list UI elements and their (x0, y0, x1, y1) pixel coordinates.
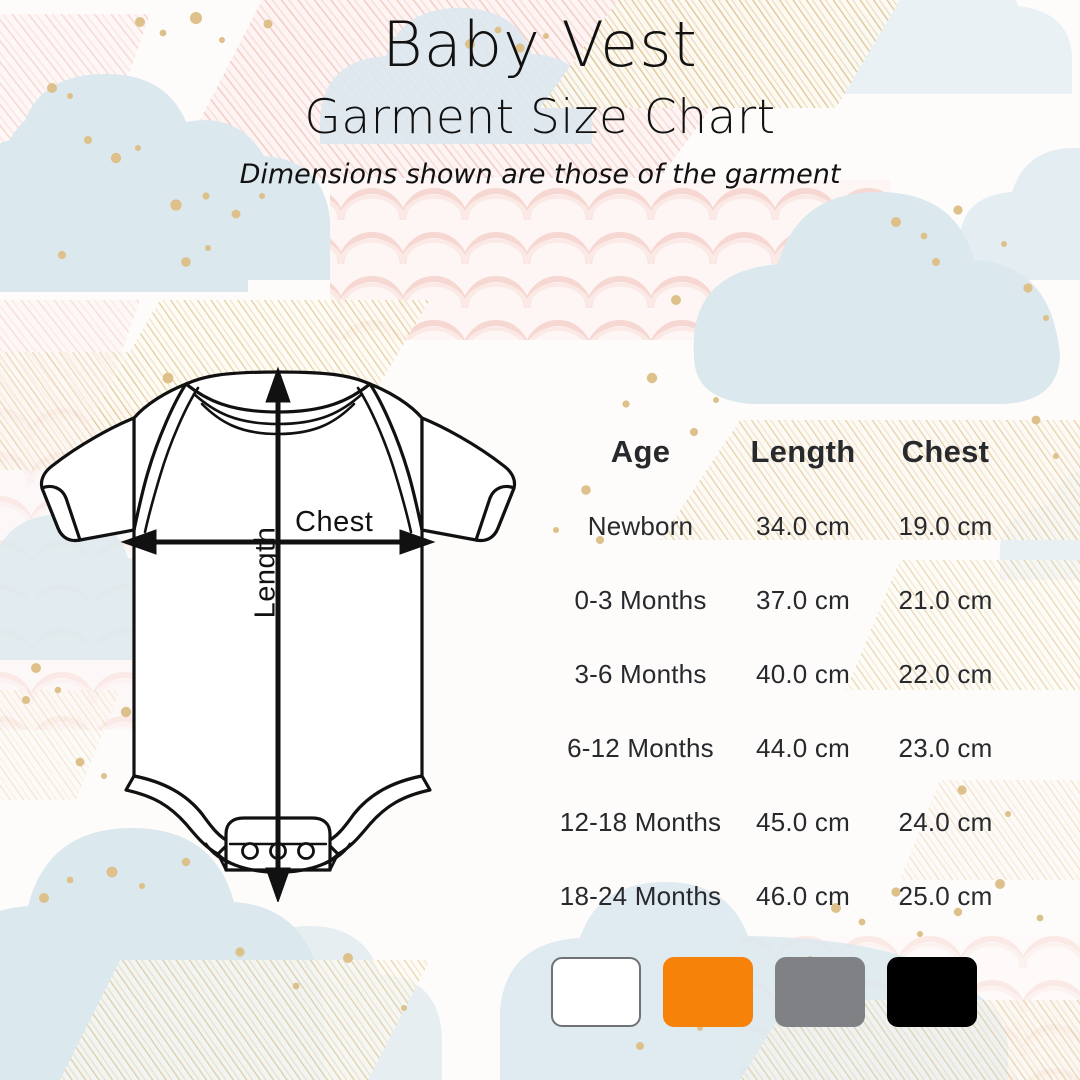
colour-swatch-orange[interactable] (663, 957, 753, 1027)
colour-swatch-row (551, 957, 1021, 1027)
cell-age: 12-18 Months (548, 807, 733, 838)
cell-age: 0-3 Months (548, 585, 733, 616)
column-header-length: Length (733, 434, 873, 470)
table-row: 6-12 Months 44.0 cm 23.0 cm (548, 711, 1018, 785)
cell-chest: 22.0 cm (873, 659, 1018, 690)
cell-age: Newborn (548, 511, 733, 542)
cell-length: 44.0 cm (733, 733, 873, 764)
cell-length: 34.0 cm (733, 511, 873, 542)
cell-chest: 19.0 cm (873, 511, 1018, 542)
column-header-chest: Chest (873, 434, 1018, 470)
chest-dimension-label: Chest (295, 506, 373, 539)
cell-chest: 25.0 cm (873, 881, 1018, 912)
colour-swatch-black[interactable] (887, 957, 977, 1027)
table-header-row: Age Length Chest (548, 415, 1018, 489)
cell-length: 46.0 cm (733, 881, 873, 912)
length-arrow-head-bottom (266, 868, 290, 902)
length-dimension-label: Length (250, 513, 283, 633)
cell-length: 40.0 cm (733, 659, 873, 690)
snap-button (243, 844, 258, 859)
cell-chest: 21.0 cm (873, 585, 1018, 616)
cell-length: 45.0 cm (733, 807, 873, 838)
column-header-age: Age (548, 434, 733, 470)
size-table: Age Length Chest Newborn 34.0 cm 19.0 cm… (548, 415, 1018, 933)
cell-age: 3-6 Months (548, 659, 733, 690)
colour-swatch-grey[interactable] (775, 957, 865, 1027)
cell-age: 6-12 Months (548, 733, 733, 764)
table-row: 0-3 Months 37.0 cm 21.0 cm (548, 563, 1018, 637)
colour-swatch-white[interactable] (551, 957, 641, 1027)
snap-button (299, 844, 314, 859)
cell-chest: 23.0 cm (873, 733, 1018, 764)
page-header: Baby Vest Garment Size Chart Dimensions … (0, 0, 1080, 188)
size-chart-page: Baby Vest Garment Size Chart Dimensions … (0, 0, 1080, 1080)
cell-age: 18-24 Months (548, 881, 733, 912)
table-row: 12-18 Months 45.0 cm 24.0 cm (548, 785, 1018, 859)
table-row: 18-24 Months 46.0 cm 25.0 cm (548, 859, 1018, 933)
cell-length: 37.0 cm (733, 585, 873, 616)
page-title: Baby Vest (0, 14, 1080, 76)
table-row: Newborn 34.0 cm 19.0 cm (548, 489, 1018, 563)
cell-chest: 24.0 cm (873, 807, 1018, 838)
page-subtitle: Garment Size Chart (0, 94, 1080, 141)
table-row: 3-6 Months 40.0 cm 22.0 cm (548, 637, 1018, 711)
page-tagline: Dimensions shown are those of the garmen… (0, 161, 1080, 188)
